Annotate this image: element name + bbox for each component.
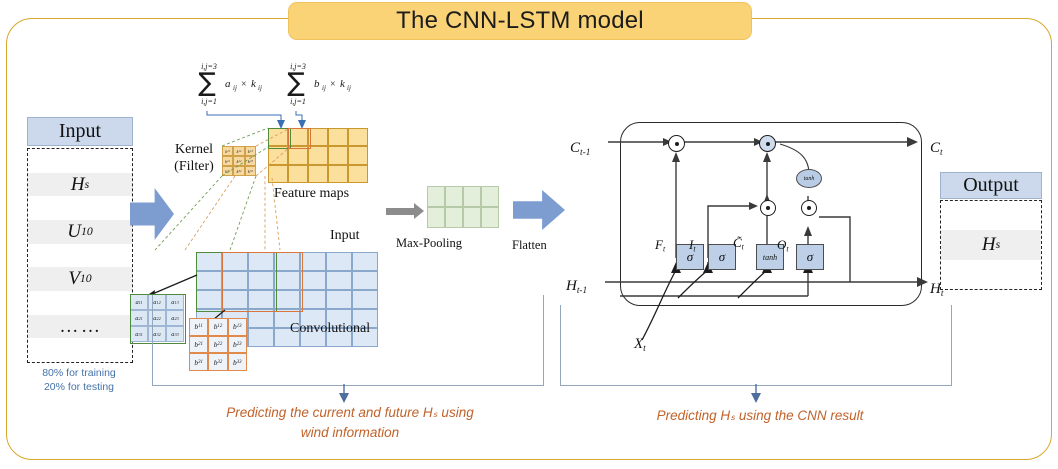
input-row-ellipsis: … …	[28, 315, 132, 339]
svg-text:ij: ij	[258, 84, 262, 92]
input-row-v10: V10	[28, 267, 132, 291]
arrowhead-forget-up	[672, 152, 680, 162]
input-row-hs-label: H	[71, 174, 85, 196]
right-bracket-arrow	[742, 384, 772, 406]
diagram-canvas: The CNN-LSTM model Input Hs U10 V10 … … …	[0, 0, 1058, 469]
candidate-gate-label: C̃t	[733, 235, 744, 252]
input-row-spacer-0	[28, 149, 132, 173]
output-row-hs-label: H	[982, 234, 996, 256]
svg-text:∑: ∑	[287, 68, 305, 98]
output-panel-header: Output	[940, 172, 1042, 199]
left-caption: Predicting the current and future Hₛ usi…	[175, 403, 525, 442]
left-caption-line2: wind information	[175, 423, 525, 443]
forget-gate-label: Ft	[655, 237, 665, 254]
arrow-conv-to-pool-shaft	[386, 208, 416, 215]
train-note-line2: 20% for testing	[17, 380, 141, 394]
sum-right-lower: i,j=1	[290, 97, 306, 106]
output-row-hs: Hs	[941, 230, 1041, 259]
input-row-u10-label: U	[67, 221, 81, 243]
train-test-note: 80% for training 20% for testing	[17, 366, 141, 395]
svg-text:×: ×	[330, 79, 336, 90]
conv-input-label: Input	[330, 228, 360, 244]
svg-text:ij: ij	[347, 84, 351, 92]
output-multiply-op	[801, 200, 817, 216]
left-caption-line1: Predicting the current and future Hₛ usi…	[175, 403, 525, 423]
arrowhead-c-out	[907, 137, 918, 147]
flatten-label: Flatten	[512, 238, 547, 253]
summation-formulas: i,j=3 ∑ i,j=1 a ij × k ij i,j=3 ∑ i,j=1 …	[185, 55, 385, 130]
conv-input-cell	[352, 252, 378, 271]
input-multiply-op	[760, 200, 776, 216]
svg-text:ij: ij	[233, 84, 237, 92]
pool-cell	[445, 207, 463, 228]
arrowhead-add-up	[763, 152, 771, 162]
tanh-node: tanh	[796, 169, 822, 188]
a-matrix-cell-31: a31	[130, 326, 148, 342]
input-row-spacer-1	[28, 196, 132, 220]
pool-cell	[445, 186, 463, 207]
pool-cell	[481, 207, 499, 228]
input-gate-label: It	[689, 237, 696, 254]
pool-cell	[427, 207, 445, 228]
pool-cell	[463, 186, 481, 207]
output-gate-sigma: σ	[796, 244, 824, 270]
right-bracket	[560, 305, 952, 386]
sum-left-body: a	[225, 78, 231, 90]
input-row-spacer-4	[28, 338, 132, 362]
a-matrix-cell-11: a11	[130, 294, 148, 310]
svg-text:∑: ∑	[198, 68, 216, 98]
input-row-u10: U10	[28, 220, 132, 244]
input-row-v10-label: V	[68, 268, 80, 290]
left-bracket	[152, 295, 544, 386]
input-row-v10-sub: 10	[80, 272, 92, 286]
arrowhead-i-into-mult	[749, 202, 758, 210]
sum-left-lower: i,j=1	[201, 97, 217, 106]
sum-right-body: b	[314, 78, 320, 90]
input-row-spacer-3	[28, 291, 132, 315]
svg-text:k: k	[251, 78, 257, 90]
train-note-line1: 80% for training	[17, 366, 141, 380]
input-panel-header: Input	[27, 117, 133, 146]
pool-cell	[427, 186, 445, 207]
input-row-spacer-2	[28, 244, 132, 268]
a-matrix-cell-21: a21	[130, 310, 148, 326]
svg-text:k: k	[340, 78, 346, 90]
forget-multiply-op	[668, 135, 685, 152]
output-panel-body: Hs	[940, 200, 1042, 290]
conv-input-cell	[352, 271, 378, 290]
input-panel-body: Hs U10 V10 … …	[27, 148, 133, 363]
pool-cell	[481, 186, 499, 207]
arrow-conv-to-pool-head	[414, 203, 424, 219]
svg-text:×: ×	[241, 79, 247, 90]
output-row-spacer-1	[941, 260, 1041, 289]
page-title: The CNN-LSTM model	[288, 2, 752, 40]
right-caption: Predicting Hₛ using the CNN result	[620, 406, 900, 426]
max-pooling-grid	[427, 186, 499, 228]
input-gate-sigma: σ	[708, 244, 736, 270]
output-row-spacer-0	[941, 201, 1041, 230]
output-gate-label: Ot	[777, 237, 789, 254]
arrowhead-tanh-down	[804, 226, 812, 236]
pool-cell	[463, 207, 481, 228]
cell-add-op	[759, 135, 776, 152]
output-row-hs-sub: s	[996, 238, 1001, 252]
arrowhead-h-out	[917, 277, 928, 287]
input-row-u10-sub: 10	[81, 225, 93, 239]
input-row-hs: Hs	[28, 173, 132, 197]
svg-text:ij: ij	[322, 84, 326, 92]
max-pooling-label: Max-Pooling	[396, 236, 462, 251]
input-row-hs-sub: s	[85, 178, 90, 192]
